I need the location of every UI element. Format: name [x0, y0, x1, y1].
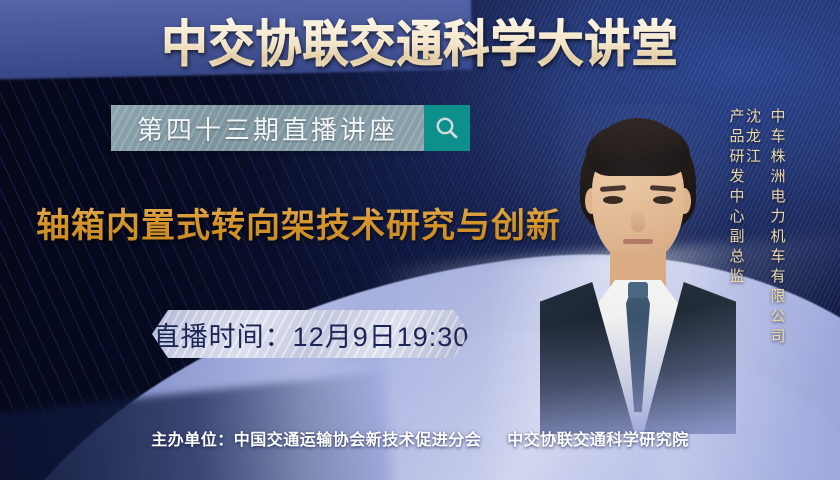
speaker-name-block: 沈龙江 产品研发中心副总监 [727, 108, 760, 288]
footer-organizers: 主办单位：中国交通运输协会新技术促进分会中交协联交通科学研究院 [0, 426, 840, 450]
footer-prefix: 主办单位： [151, 432, 234, 449]
speaker-photo [540, 104, 736, 434]
speaker-title: 产品研发中心副总监 [728, 108, 745, 288]
speaker-organization: 中车株洲电力机车有限公司 [768, 108, 785, 348]
search-button[interactable] [424, 105, 470, 151]
broadcast-time-text: 直播时间：12月9日19:30 [153, 315, 470, 354]
episode-label: 第四十三期直播讲座 [137, 110, 398, 147]
broadcast-time-badge: 直播时间：12月9日19:30 [152, 310, 470, 358]
episode-banner: 第四十三期直播讲座 [111, 105, 424, 151]
page-title: 中交协联交通科学大讲堂 [0, 16, 840, 74]
webinar-poster: 中交协联交通科学大讲堂 第四十三期直播讲座 轴箱内置式转向架技术研究与创新 直播… [0, 0, 840, 480]
page-title-text: 中交协联交通科学大讲堂 [162, 14, 679, 76]
search-icon [434, 115, 460, 141]
footer-organizer-2: 中交协联交通科学研究院 [507, 432, 689, 449]
lecture-topic-title: 轴箱内置式转向架技术研究与创新 [36, 198, 561, 247]
speaker-name: 沈龙江 [744, 108, 761, 274]
footer-organizer-1: 中国交通运输协会新技术促进分会 [234, 432, 482, 449]
